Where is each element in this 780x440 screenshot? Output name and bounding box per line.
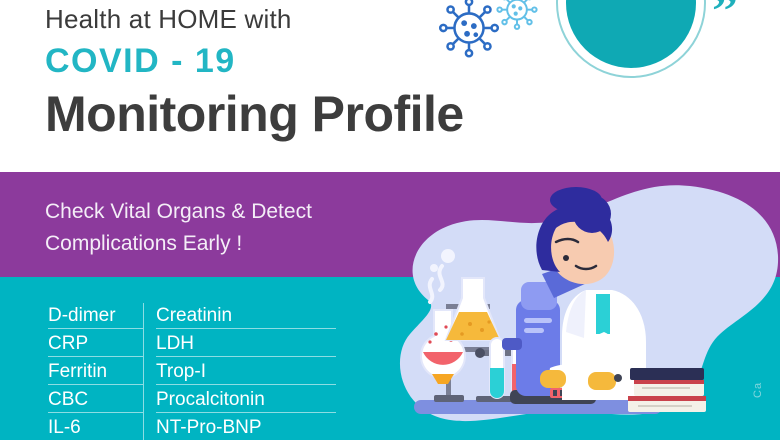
table-row: CRP LDH [48, 331, 348, 359]
subheading-block: Check Vital Organs & Detect Complication… [45, 196, 312, 260]
page-title: Monitoring Profile [45, 84, 705, 144]
column-divider [143, 387, 144, 415]
test-list-table: D-dimer Creatinin CRP LDH Ferritin Trop-… [48, 303, 348, 440]
test-name-col2: NT-Pro-BNP [156, 415, 336, 440]
test-name-col1: CRP [48, 331, 143, 357]
column-divider [143, 331, 144, 359]
test-name-col2: Creatinin [156, 303, 336, 329]
column-divider [143, 359, 144, 387]
test-name-col1: IL-6 [48, 415, 143, 440]
test-name-col2: Trop-I [156, 359, 336, 385]
subheading-line-1: Check Vital Organs & Detect [45, 196, 312, 228]
test-name-col2: Procalcitonin [156, 387, 336, 413]
column-divider [143, 415, 144, 440]
test-name-col2: LDH [156, 331, 336, 357]
quote-mark-icon: ” [712, 0, 738, 38]
header-covid-label: COVID - 19 [45, 40, 705, 82]
poster-canvas: ” [0, 0, 780, 440]
column-divider [143, 303, 144, 331]
table-row: Ferritin Trop-I [48, 359, 348, 387]
table-row: CBC Procalcitonin [48, 387, 348, 415]
header-block: Health at HOME with COVID - 19 Monitorin… [45, 2, 705, 144]
table-row: D-dimer Creatinin [48, 303, 348, 331]
test-name-col1: D-dimer [48, 303, 143, 329]
subheading-line-2: Complications Early ! [45, 228, 312, 260]
watermark-text: Ca [752, 382, 764, 398]
scientist-microscope-illustration-icon [390, 182, 780, 440]
test-name-col1: CBC [48, 387, 143, 413]
header-tagline: Health at HOME with [45, 2, 705, 36]
table-row: IL-6 NT-Pro-BNP [48, 415, 348, 440]
test-name-col1: Ferritin [48, 359, 143, 385]
